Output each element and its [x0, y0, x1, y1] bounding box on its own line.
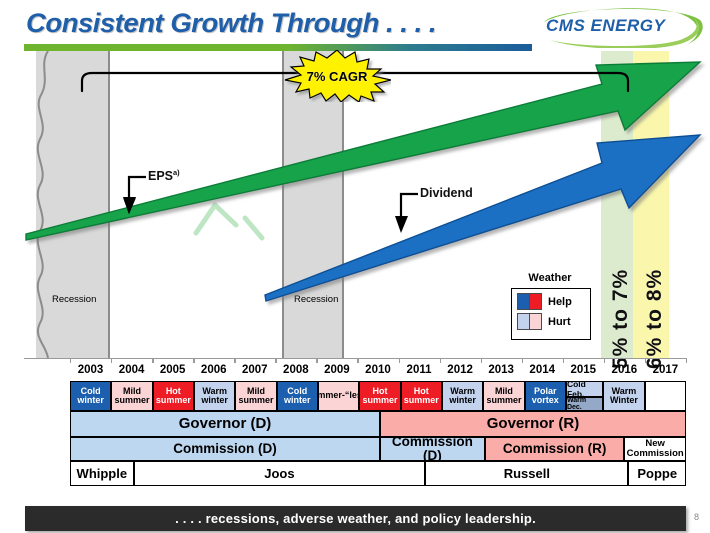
axis-tick — [686, 358, 687, 363]
commission-row: Commission (D)Commission (D)Commission (… — [70, 437, 686, 461]
axis-tick — [440, 358, 441, 363]
logo-text: CMS ENERGY — [546, 16, 665, 36]
axis-tick — [70, 358, 71, 363]
weather-cell-2006: Warm winter — [194, 381, 235, 411]
year-label-2015: 2015 — [563, 364, 604, 380]
torn-edge-icon — [30, 51, 54, 358]
weather-legend: Help Hurt — [511, 288, 591, 340]
weather-cell-2008: Cold winter — [277, 381, 318, 411]
axis-tick — [111, 358, 112, 363]
dividend-series-label: Dividend — [420, 186, 473, 200]
year-label-2017: 2017 — [645, 364, 686, 380]
recession-label-1: Recession — [52, 294, 96, 305]
axis-tick — [604, 358, 605, 363]
weather-cell-2015: Cold Feb.Warm Dec. — [566, 381, 603, 411]
cagr-callout: 7% CAGR — [283, 50, 391, 102]
growth-label-dividend: 6% to 8% — [643, 229, 667, 369]
eps-label-superscript: a) — [173, 168, 180, 177]
weather-cell-2014: Polar vortex — [525, 381, 566, 411]
legend-row-hurt: Hurt — [517, 313, 571, 330]
weather-cell-2005: Hot summer — [153, 381, 194, 411]
year-axis — [24, 358, 686, 362]
commission-cell-3: New Commission — [624, 437, 686, 461]
year-labels-row: 2003200420052006200720082009201020112012… — [70, 364, 686, 380]
legend-title: Weather — [511, 272, 589, 284]
page-number: 8 — [694, 512, 699, 522]
commission-cell-2: Commission (R) — [485, 437, 625, 461]
axis-tick — [563, 358, 564, 363]
year-label-2010: 2010 — [357, 364, 398, 380]
weather-cell-2004: Mild summer — [111, 381, 152, 411]
year-label-2012: 2012 — [440, 364, 481, 380]
legend-swatch-help-cold — [517, 293, 529, 310]
eps-series-label: EPSa) — [148, 168, 180, 183]
year-label-2008: 2008 — [275, 364, 316, 380]
weather-cell-2010: Hot summer — [359, 381, 400, 411]
axis-tick — [152, 358, 153, 363]
banner-text: . . . . recessions, adverse weather, and… — [175, 511, 536, 526]
axis-tick — [357, 358, 358, 363]
legend-swatch-help-hot — [529, 293, 542, 310]
legend-swatch-hurt-cold — [517, 313, 529, 330]
weather-row: Cold winterMild summerHot summerWarm win… — [70, 381, 686, 411]
governor-cell-0: Governor (D) — [70, 411, 380, 437]
weather-cell-2007: Mild summer — [235, 381, 276, 411]
weather-cell-2011: Hot summer — [401, 381, 442, 411]
people-row: WhippleJoosRussellPoppe — [70, 461, 686, 486]
weather-cell-2013: Mild summer — [483, 381, 524, 411]
weather-cell-2003: Cold winter — [70, 381, 111, 411]
commission-cell-1: Commission (D) — [380, 437, 485, 461]
cms-energy-logo: CMS ENERGY — [528, 4, 708, 48]
timeline-table: Cold winterMild summerHot summerWarm win… — [70, 381, 686, 486]
recession-label-2: Recession — [294, 294, 338, 305]
people-cell-3: Poppe — [628, 461, 685, 486]
slide-canvas: Consistent Growth Through . . . . CMS EN… — [0, 0, 710, 533]
weather-cell-2015-top: Cold Feb. — [566, 381, 603, 397]
year-label-2011: 2011 — [399, 364, 440, 380]
title-underline-rule — [24, 44, 532, 51]
eps-label-text: EPS — [148, 169, 173, 183]
cagr-label: 7% CAGR — [283, 50, 391, 102]
weather-cell-2009: Summer-“less” — [318, 381, 359, 411]
page-title: Consistent Growth Through . . . . — [26, 8, 436, 39]
axis-tick — [193, 358, 194, 363]
year-label-2003: 2003 — [70, 364, 111, 380]
legend-label-hurt: Hurt — [548, 316, 571, 328]
weather-cell-2016: Warm Winter — [603, 381, 644, 411]
year-label-2009: 2009 — [316, 364, 357, 380]
year-label-2014: 2014 — [522, 364, 563, 380]
legend-row-help: Help — [517, 293, 572, 310]
year-label-2006: 2006 — [193, 364, 234, 380]
recession-band-1: Recession — [36, 51, 108, 358]
bottom-banner: . . . . recessions, adverse weather, and… — [25, 506, 686, 531]
recession-1-right-edge — [108, 51, 110, 358]
axis-tick — [399, 358, 400, 363]
governor-cell-1: Governor (R) — [380, 411, 686, 437]
year-label-2013: 2013 — [481, 364, 522, 380]
year-label-2016: 2016 — [604, 364, 645, 380]
axis-tick — [275, 358, 276, 363]
weather-cell-2015-bottom: Warm Dec. — [566, 397, 603, 411]
legend-label-help: Help — [548, 296, 572, 308]
axis-tick — [645, 358, 646, 363]
axis-tick — [481, 358, 482, 363]
governor-row: Governor (D)Governor (R) — [70, 411, 686, 437]
axis-line — [24, 358, 686, 359]
axis-tick — [316, 358, 317, 363]
axis-tick — [234, 358, 235, 363]
weather-cell-2012: Warm winter — [442, 381, 483, 411]
weather-cell-2017 — [645, 381, 686, 411]
year-label-2007: 2007 — [234, 364, 275, 380]
people-cell-1: Joos — [134, 461, 426, 486]
people-cell-0: Whipple — [70, 461, 134, 486]
growth-label-eps: 5% to 7% — [609, 229, 633, 369]
axis-tick — [522, 358, 523, 363]
year-label-2004: 2004 — [111, 364, 152, 380]
commission-cell-0: Commission (D) — [70, 437, 380, 461]
people-cell-2: Russell — [425, 461, 628, 486]
legend-swatch-hurt-hot — [529, 313, 542, 330]
year-label-2005: 2005 — [152, 364, 193, 380]
